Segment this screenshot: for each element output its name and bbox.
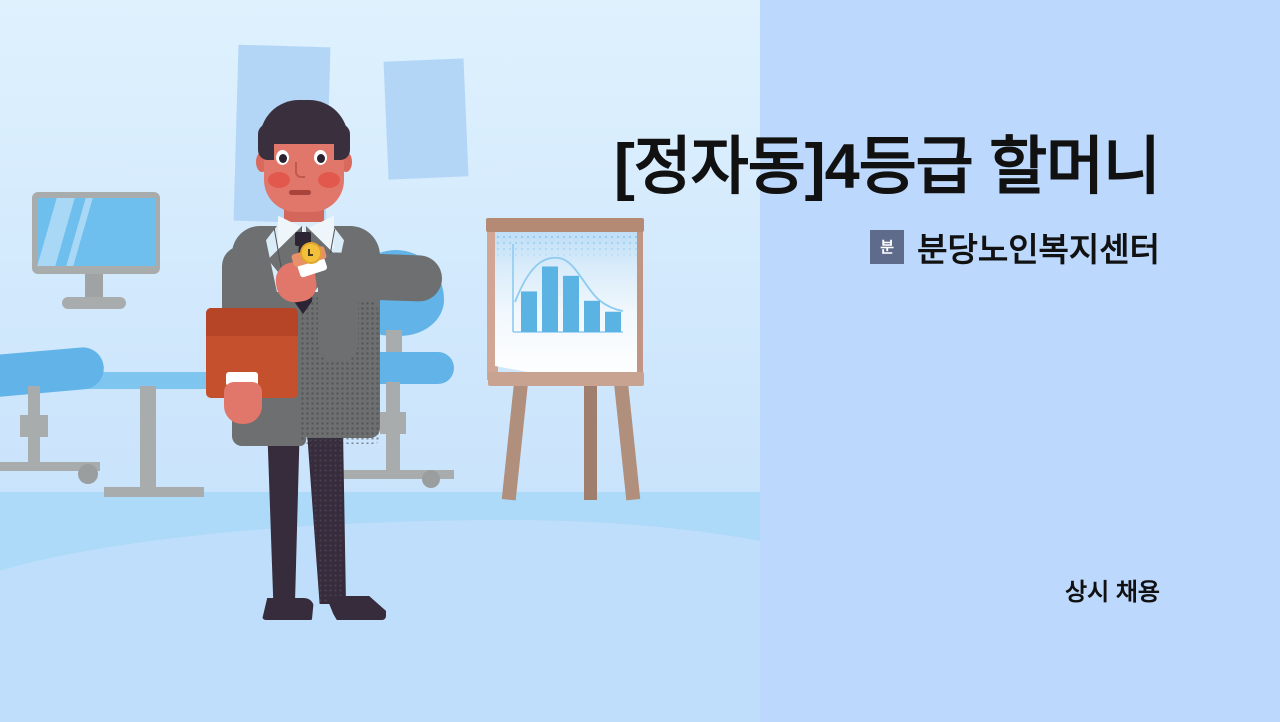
right-shoe (326, 596, 386, 620)
easel-leg-center (584, 382, 597, 500)
job-posting-banner: [정자동]4등급 할머니 분 분당노인복지센터 상시 채용 (0, 0, 1280, 722)
wristwatch-hands (308, 249, 313, 256)
hair-side-left (258, 124, 274, 160)
briefcase-flap (206, 308, 298, 336)
chart-bar (521, 291, 537, 332)
page-title: [정자동]4등급 할머니 (480, 132, 1160, 203)
hair-side-right (334, 124, 350, 160)
left-shoe (262, 598, 314, 620)
mouth (289, 190, 311, 195)
company-logo-badge: 분 (870, 230, 904, 264)
easel-tray (488, 372, 644, 386)
businessman-figure (188, 96, 448, 616)
monitor-base (62, 297, 126, 309)
chart-bars (521, 266, 621, 332)
chart-bar (542, 266, 558, 332)
office-chair-front-hub (20, 415, 48, 437)
desk-leg (140, 386, 156, 496)
text-block: [정자동]4등급 할머니 분 분당노인복지센터 (480, 132, 1160, 271)
illustration-scene (0, 0, 760, 722)
cheek-right (318, 172, 340, 188)
hire-type-label: 상시 채용 (1065, 572, 1160, 607)
chart-bar (605, 312, 621, 332)
nose (295, 162, 305, 178)
left-hand (224, 382, 262, 424)
office-chair-front-wheel (78, 464, 98, 484)
chart-bar (563, 276, 579, 332)
pupil-right (317, 154, 325, 163)
company-name: 분당노인복지센터 (917, 223, 1160, 271)
pupil-left (279, 154, 287, 163)
cheek-left (268, 172, 290, 188)
chart-bar (584, 301, 600, 332)
company-row: 분 분당노인복지센터 (480, 223, 1160, 271)
